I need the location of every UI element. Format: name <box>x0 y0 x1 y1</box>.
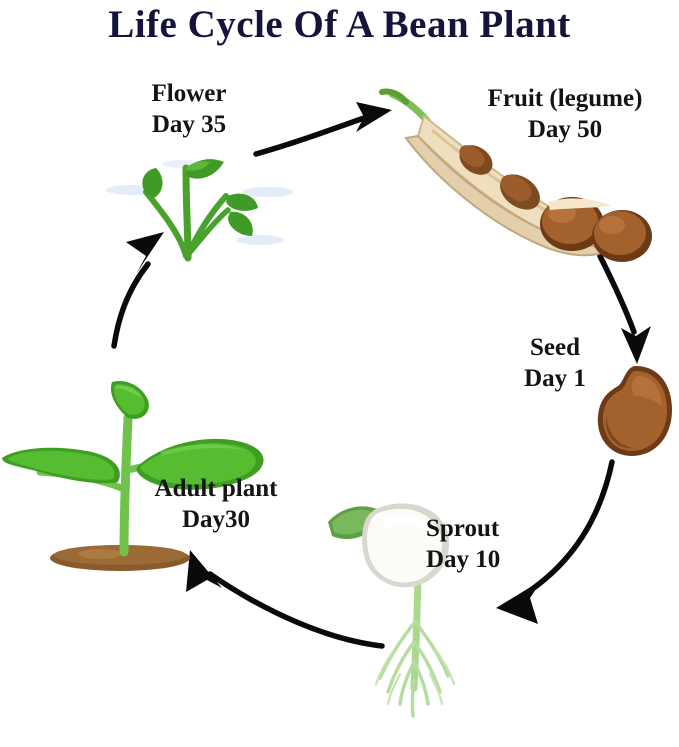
stage-label-flower: Flower Day 35 <box>104 78 274 140</box>
stage-name-adult-plant: Adult plant <box>155 475 278 502</box>
adult-plant-illustration <box>0 352 270 582</box>
stage-day-seed: Day 1 <box>494 363 616 394</box>
stage-day-adult-plant: Day30 <box>128 504 304 535</box>
stage-label-fruit: Fruit (legume) Day 50 <box>452 83 678 145</box>
page-title: Life Cycle Of A Bean Plant <box>0 2 679 47</box>
stage-label-sprout: Sprout Day 10 <box>426 513 566 575</box>
stage-name-fruit: Fruit (legume) <box>488 85 643 112</box>
stage-day-sprout: Day 10 <box>426 544 566 575</box>
stage-day-flower: Day 35 <box>104 109 274 140</box>
stage-label-seed: Seed Day 1 <box>494 332 616 394</box>
stage-name-flower: Flower <box>152 80 227 107</box>
stage-name-seed: Seed <box>530 334 580 361</box>
life-cycle-diagram: Life Cycle Of A Bean Plant <box>0 0 679 747</box>
stage-label-adult-plant: Adult plant Day30 <box>128 473 304 535</box>
flower-illustration <box>110 148 290 266</box>
stage-day-fruit: Day 50 <box>452 114 678 145</box>
stage-name-sprout: Sprout <box>426 515 499 542</box>
